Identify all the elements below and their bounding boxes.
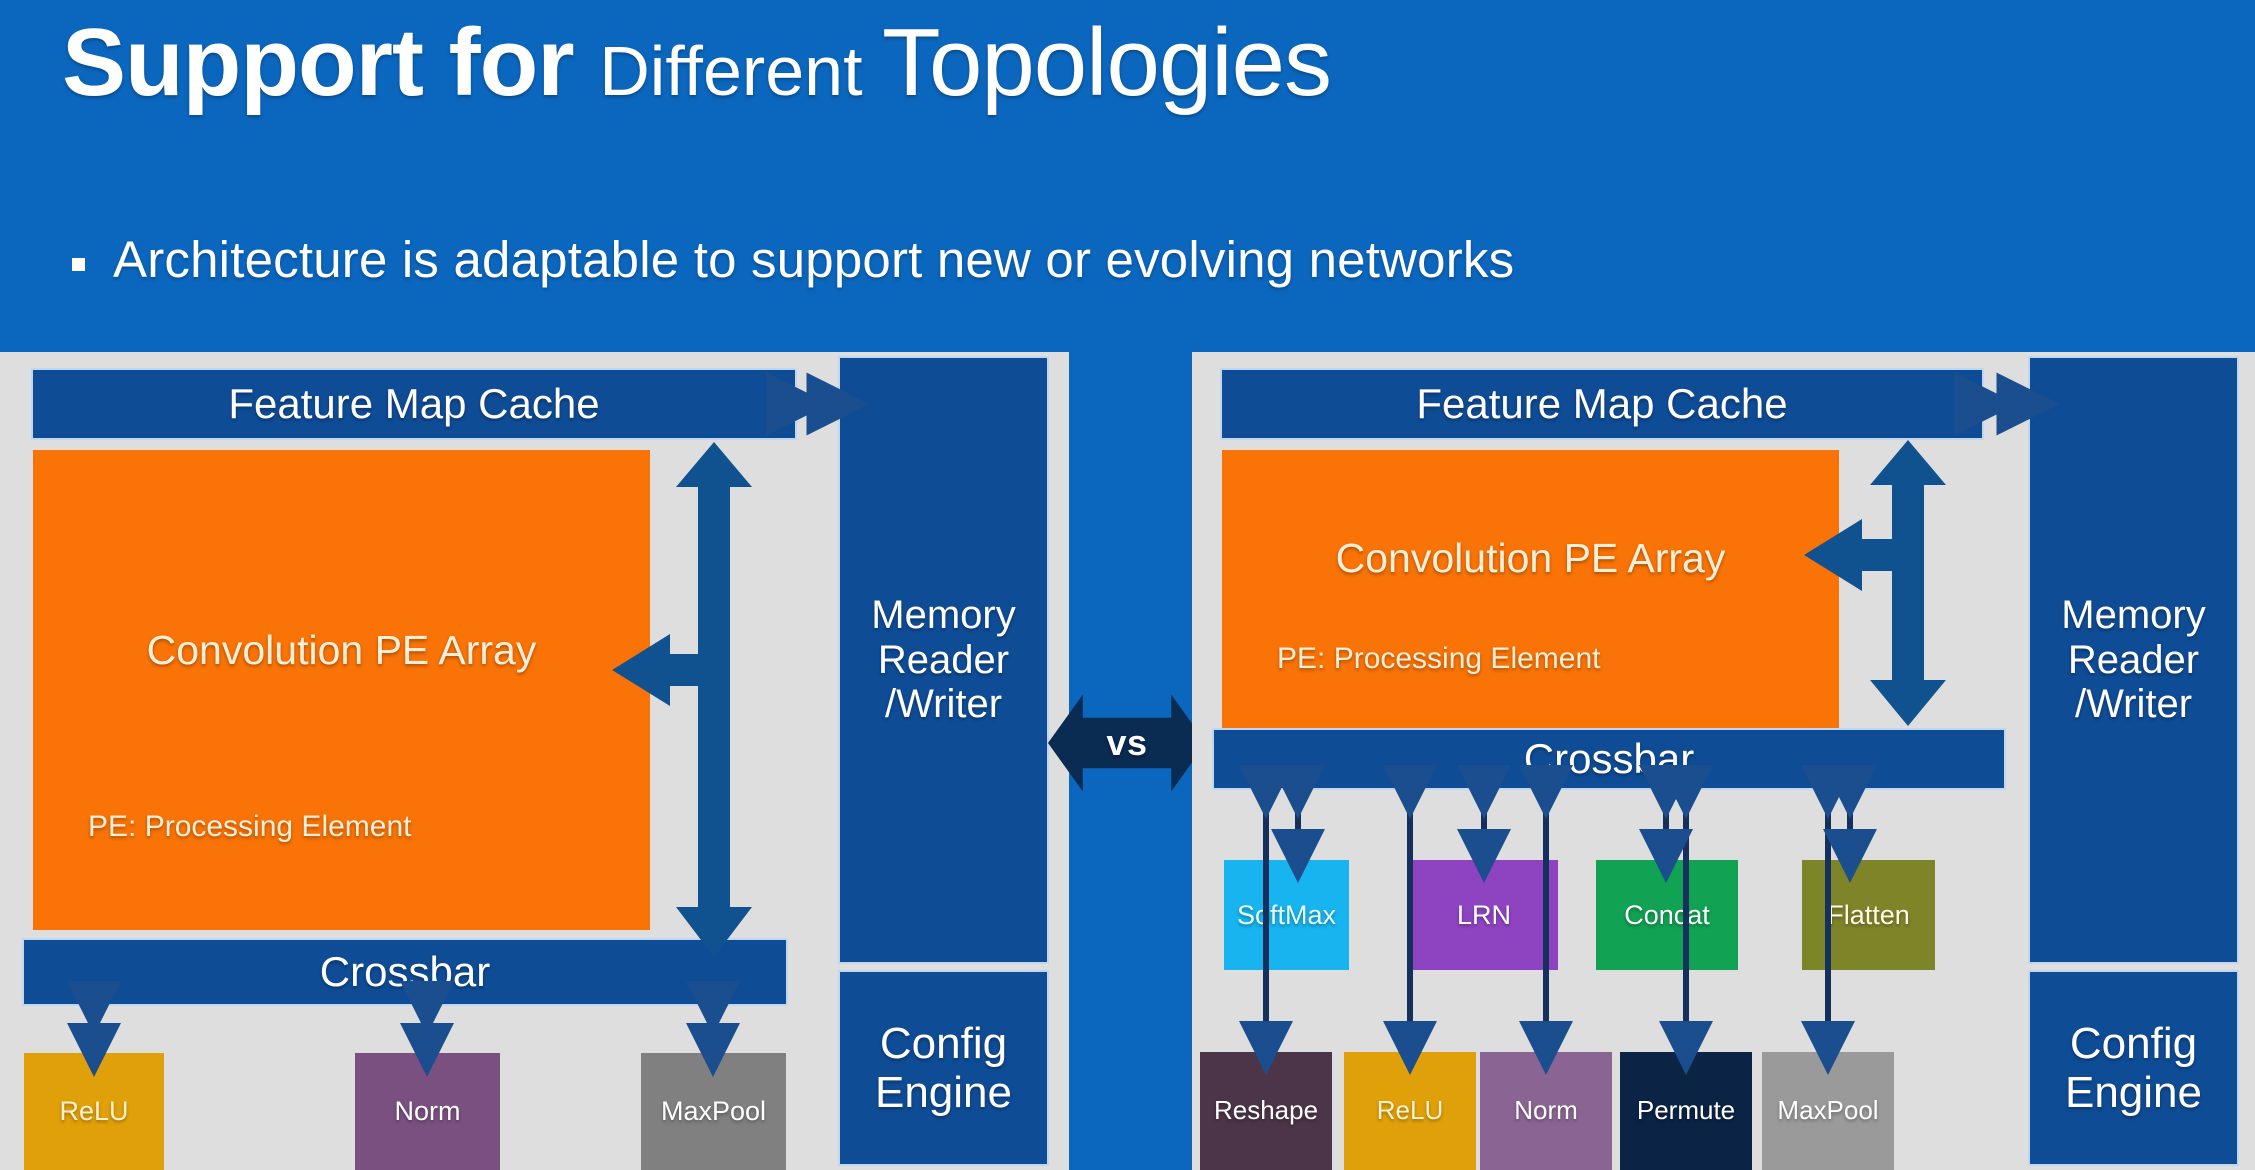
left-feature-map-cache: Feature Map Cache [33,370,795,438]
left-operator-block-norm: Norm [355,1053,500,1170]
right-operator-block-permute: Permute [1620,1052,1752,1170]
title-part-1: Support for [62,9,599,116]
left-operator-block-relu: ReLU [24,1053,164,1170]
right-vertical-bidirectional-arrow [1870,440,1946,726]
right-config-line-0: Config [2070,1019,2197,1068]
right-operator-block-maxpool: MaxPool [1762,1052,1894,1170]
right-operator-block-relu: ReLU [1344,1052,1476,1170]
right-feature-map-cache: Feature Map Cache [1222,370,1982,438]
left-config-line-1: Engine [875,1068,1012,1117]
right-memory-reader-writer: Memory Reader /Writer [2030,358,2237,962]
left-crossbar: Crossbar [24,940,786,1004]
right-mrw-line-1: Reader [2068,638,2199,683]
versus-badge: vs [1048,688,1206,798]
title-part-3: Topologies [882,9,1331,116]
slide-root: Support for Different Topologies Archite… [0,0,2255,1170]
bullet-text: Architecture is adaptable to support new… [113,230,1514,289]
right-operator-block-norm: Norm [1480,1052,1612,1170]
right-operator-block-concat: Concat [1596,860,1738,970]
versus-label: vs [1106,722,1147,764]
left-mrw-line-0: Memory [871,593,1015,638]
right-operator-block-flatten: Flatten [1802,860,1935,970]
right-pe-array-note: PE: Processing Element [1277,642,1600,676]
square-bullet-icon [72,258,85,271]
bullet-line: Architecture is adaptable to support new… [72,230,1514,289]
left-operator-block-maxpool: MaxPool [641,1053,786,1170]
right-convolution-pe-array: Convolution PE Array PE: Processing Elem… [1222,450,1839,755]
right-crossbar: Crossbar [1214,730,2004,788]
left-mrw-line-1: Reader [878,638,1009,683]
left-memory-reader-writer: Memory Reader /Writer [840,358,1047,962]
left-convolution-pe-array: Convolution PE Array PE: Processing Elem… [33,450,650,930]
right-architecture-diagram: Feature Map Cache Convolution PE Array P… [1192,352,2255,1170]
right-pe-array-title: Convolution PE Array [1222,536,1839,582]
left-vertical-bidirectional-arrow [676,442,752,957]
right-operator-block-reshape: Reshape [1200,1052,1332,1170]
right-operator-block-softmax: SoftMax [1224,860,1349,970]
right-mrw-line-0: Memory [2061,593,2205,638]
left-mrw-line-2: /Writer [885,682,1002,727]
title-part-2: Different [599,32,882,110]
right-mrw-line-2: /Writer [2075,682,2192,727]
right-config-engine: Config Engine [2030,972,2237,1164]
right-config-line-1: Engine [2065,1068,2202,1117]
left-architecture-diagram: Feature Map Cache Convolution PE Array P… [0,352,1069,1170]
right-operator-block-lrn: LRN [1410,860,1558,970]
left-pe-array-title: Convolution PE Array [33,628,650,674]
left-config-engine: Config Engine [840,972,1047,1164]
left-config-line-0: Config [880,1019,1007,1068]
page-title: Support for Different Topologies [62,8,1331,118]
left-pe-array-note: PE: Processing Element [88,810,411,844]
